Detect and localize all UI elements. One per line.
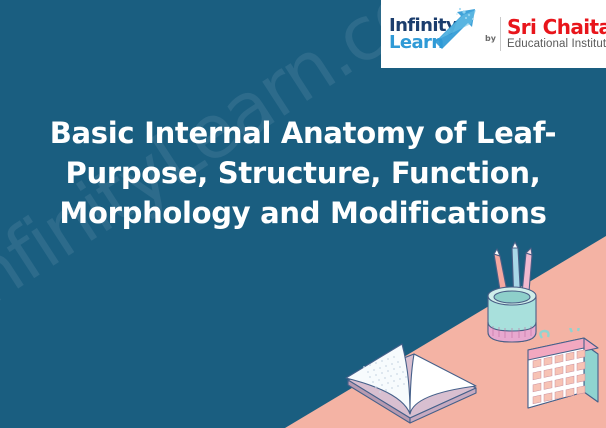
infinity-learn-logo: Infinity Learn: [381, 0, 485, 68]
open-book-illustration: [340, 330, 484, 428]
sri-chaitanya-logo: Sri Chaitanya Educational Institutions: [507, 17, 606, 51]
logo-divider: [500, 17, 501, 51]
logo-container: Infinity Learn by Sri Chaitanya Educatio…: [381, 0, 606, 68]
sri-chaitanya-title: Sri Chaitanya: [507, 17, 606, 38]
logo-connector-by: by: [485, 34, 499, 43]
desk-calendar-illustration: [518, 328, 606, 428]
sri-chaitanya-subtitle: Educational Institutions: [507, 38, 606, 51]
page-title: Basic Internal Anatomy of Leaf-Purpose, …: [20, 113, 586, 233]
poster-canvas: InfinityLearn.com Infinity Learn by Sri …: [0, 0, 606, 428]
arrow-swoosh-icon: [431, 6, 483, 52]
